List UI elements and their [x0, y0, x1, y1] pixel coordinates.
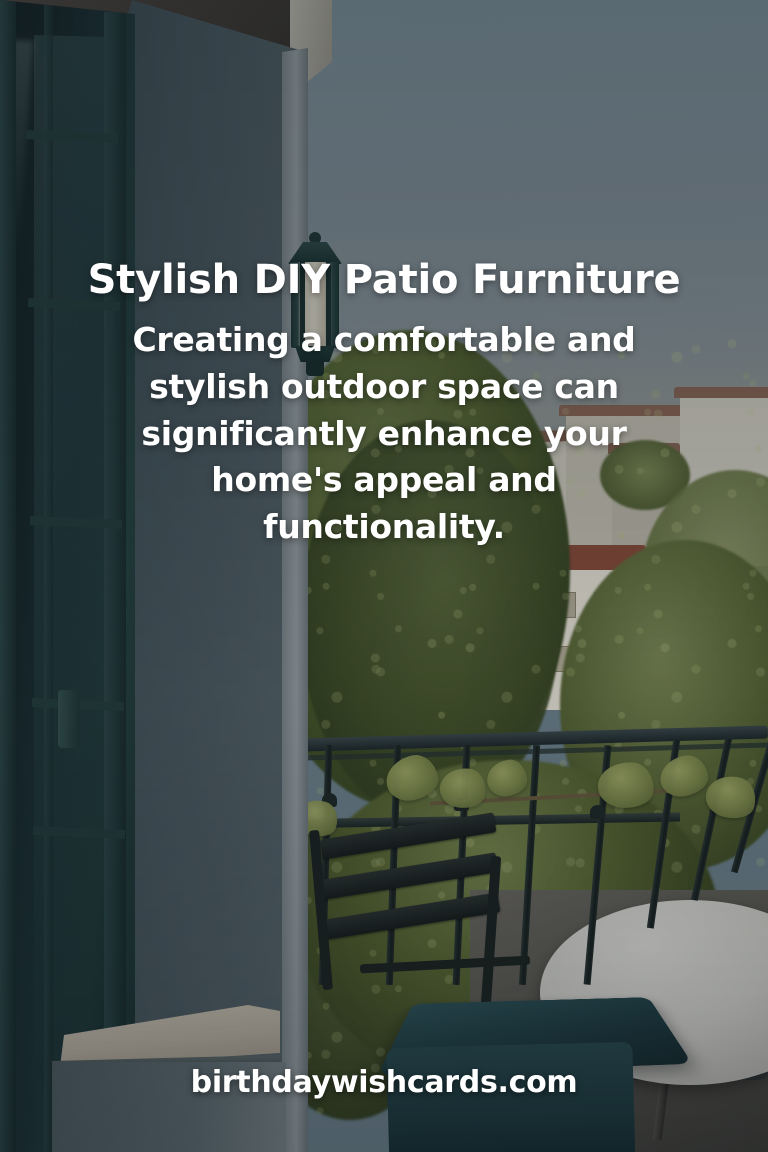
footer-site-url[interactable]: birthdaywishcards.com [0, 1065, 768, 1100]
pin-subtitle: Creating a comfortable and stylish outdo… [114, 317, 654, 551]
pinterest-pin-graphic: Stylish DIY Patio Furniture Creating a c… [0, 0, 768, 1152]
page-title: Stylish DIY Patio Furniture [0, 258, 768, 303]
pin-text-block: Stylish DIY Patio Furniture Creating a c… [0, 258, 768, 551]
photo-dark-overlay [0, 0, 768, 1152]
